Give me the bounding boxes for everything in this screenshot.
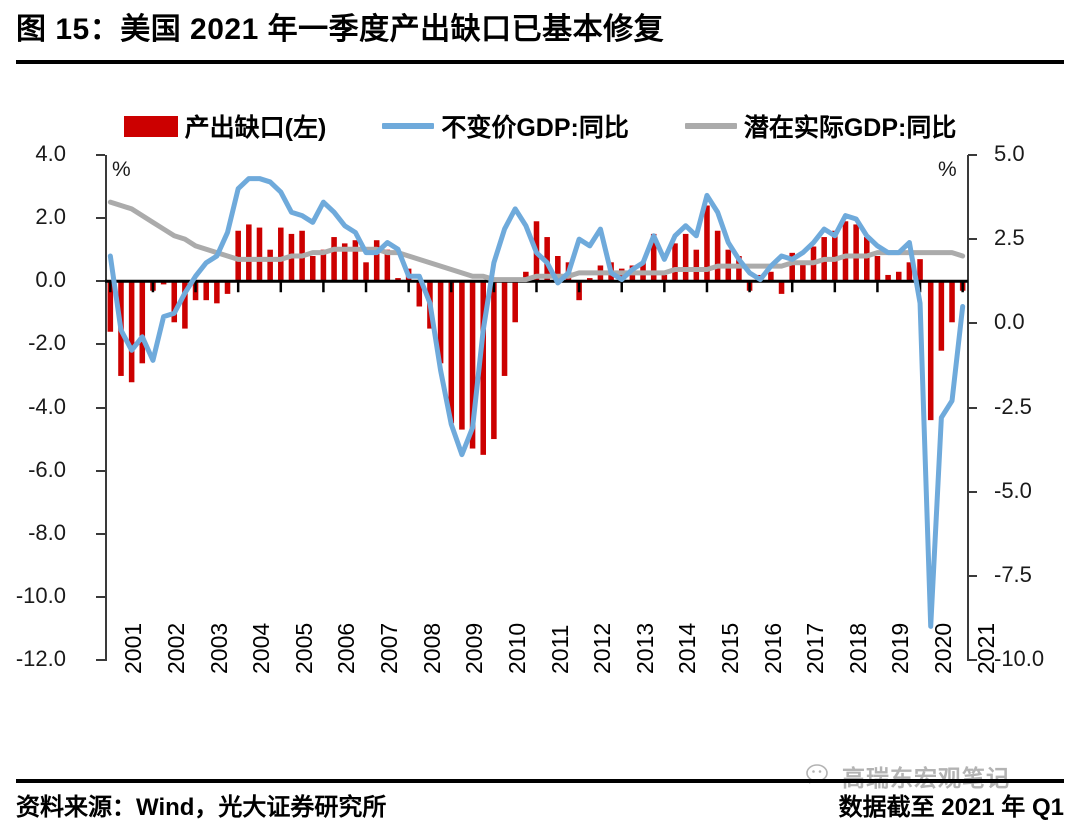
left-axis-tick-label: -12.0 (16, 648, 66, 670)
bar (353, 240, 359, 281)
left-axis-tick (96, 343, 105, 345)
right-axis-tick-label: 2.5 (994, 227, 1025, 249)
x-axis-label: 2007 (376, 623, 403, 674)
legend-line-swatch-icon (685, 123, 737, 129)
right-axis-tick (968, 238, 977, 240)
legend-label: 产出缺口(左) (185, 108, 327, 144)
left-axis-tick-label: -2.0 (28, 332, 66, 354)
right-axis-tick (968, 575, 977, 577)
bar (331, 237, 337, 281)
title-divider (16, 60, 1064, 64)
bar (203, 281, 209, 300)
bar (672, 243, 678, 281)
bar (267, 250, 273, 282)
bar (683, 234, 689, 281)
left-axis-tick-label: -10.0 (16, 585, 66, 607)
x-axis-label: 2012 (589, 623, 616, 674)
left-axis-tick-label: -6.0 (28, 459, 66, 481)
x-axis-label: 2005 (291, 623, 318, 674)
legend-item-0: 产出缺口(左) (124, 108, 327, 144)
left-axis-tick (96, 596, 105, 598)
bar (864, 237, 870, 281)
x-axis-label: 2018 (845, 623, 872, 674)
x-axis-label: 2002 (163, 623, 190, 674)
left-axis-tick-label: -8.0 (28, 522, 66, 544)
left-axis-tick-label: 0.0 (35, 269, 66, 291)
bar (140, 281, 146, 363)
chart-legend: 产出缺口(左)不变价GDP:同比潜在实际GDP:同比 (0, 108, 1080, 144)
bar (875, 256, 881, 281)
right-axis-tick (968, 322, 977, 324)
x-axis-label: 2009 (461, 623, 488, 674)
bar (246, 224, 252, 281)
left-axis-tick (96, 533, 105, 535)
axis-cap (96, 154, 105, 156)
bar (459, 281, 465, 429)
bar (129, 281, 135, 382)
footer: 资料来源：Wind，光大证券研究所 数据截至 2021 年 Q1 (16, 786, 1064, 822)
footer-divider (16, 779, 1064, 783)
axis-cap (968, 659, 977, 661)
right-axis-tick-label: 5.0 (994, 143, 1025, 165)
bar (278, 228, 284, 282)
title-bar: 图 15：美国 2021 年一季度产出缺口已基本修复 (16, 8, 1064, 60)
x-axis-label: 2017 (802, 623, 829, 674)
bar (939, 281, 945, 350)
left-axis-tick (96, 280, 105, 282)
x-axis-label: 2020 (930, 623, 957, 674)
bar (512, 281, 518, 322)
bar (779, 281, 785, 294)
plot-canvas (105, 155, 968, 660)
left-axis-tick-label: 4.0 (35, 143, 66, 165)
chart-area: % % 4.02.00.0-2.0-4.0-6.0-8.0-10.0-12.0 … (0, 140, 1080, 685)
x-axis-label: 2004 (248, 623, 275, 674)
left-axis-tick-label: 2.0 (35, 206, 66, 228)
chart-svg (105, 155, 968, 660)
right-axis-tick-label: -7.5 (994, 564, 1032, 586)
right-axis-tick-label: -5.0 (994, 480, 1032, 502)
left-axis-tick-label: -4.0 (28, 396, 66, 418)
bar (363, 262, 369, 281)
x-axis-label: 2021 (973, 623, 1000, 674)
right-axis-tick-label: -10.0 (994, 648, 1044, 670)
bar (715, 231, 721, 282)
left-axis-tick (96, 470, 105, 472)
bar (694, 250, 700, 282)
x-axis-label: 2014 (674, 623, 701, 674)
right-axis-tick-label: -2.5 (994, 396, 1032, 418)
x-axis-label: 2015 (717, 623, 744, 674)
bar (214, 281, 220, 303)
legend-bar-swatch-icon (124, 116, 178, 137)
legend-line-swatch-icon (382, 123, 434, 129)
x-axis-label: 2019 (887, 623, 914, 674)
x-axis-label: 2011 (547, 625, 574, 674)
legend-label: 不变价GDP:同比 (441, 108, 629, 144)
x-axis-label: 2016 (760, 623, 787, 674)
source-text: 资料来源：Wind，光大证券研究所 (16, 787, 386, 822)
right-axis-tick (968, 407, 977, 409)
legend-item-1: 不变价GDP:同比 (382, 108, 629, 144)
x-axis-label: 2010 (504, 623, 531, 674)
bar (853, 224, 859, 281)
right-axis-tick (968, 491, 977, 493)
x-axis-label: 2006 (333, 623, 360, 674)
legend-label: 潜在实际GDP:同比 (744, 108, 957, 144)
left-axis-tick (96, 407, 105, 409)
right-axis-tick-label: 0.0 (994, 311, 1025, 333)
bar (225, 281, 231, 294)
bar (928, 281, 934, 420)
x-axis-label: 2008 (419, 623, 446, 674)
data-asof-text: 数据截至 2021 年 Q1 (839, 787, 1064, 822)
bar (491, 281, 497, 439)
x-axis-label: 2003 (206, 623, 233, 674)
bar (949, 281, 955, 322)
page-title: 图 15：美国 2021 年一季度产出缺口已基本修复 (16, 8, 1064, 52)
axis-cap (96, 659, 105, 661)
bar (310, 256, 316, 281)
bar (832, 231, 838, 282)
bar (502, 281, 508, 376)
x-axis-label: 2001 (120, 623, 147, 674)
bar (843, 221, 849, 281)
left-axis-tick (96, 217, 105, 219)
x-axis-label: 2013 (632, 623, 659, 674)
bar (235, 231, 241, 282)
bar (257, 228, 263, 282)
axis-cap (968, 154, 977, 156)
x-axis-labels: 2001200220032004200520062007200820092010… (0, 668, 1080, 778)
bar (374, 240, 380, 281)
bar-series (108, 206, 966, 455)
legend-item-2: 潜在实际GDP:同比 (685, 108, 957, 144)
